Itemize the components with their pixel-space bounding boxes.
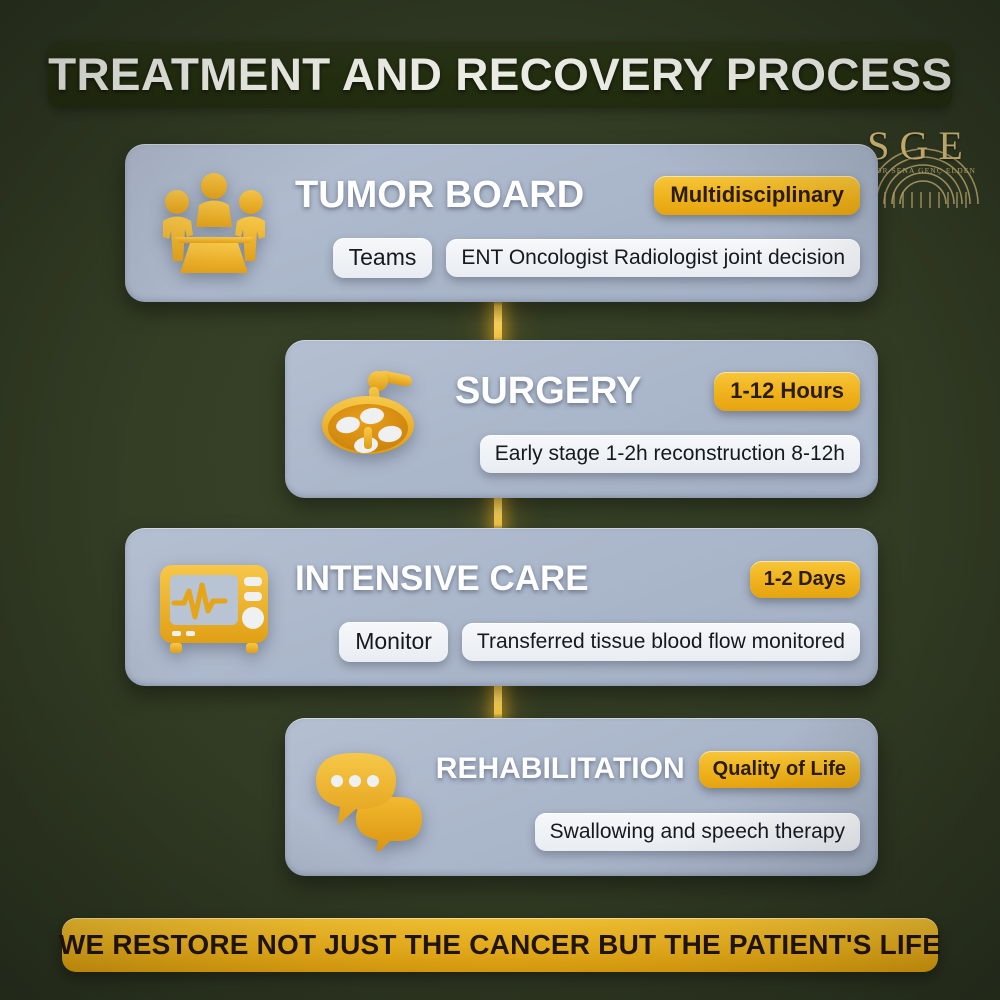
page-title-bar: TREATMENT AND RECOVERY PROCESS bbox=[48, 42, 952, 108]
step-title: REHABILITATION bbox=[436, 752, 685, 786]
step-badge[interactable]: 1-2 Days bbox=[750, 561, 860, 598]
step-detail[interactable]: Early stage 1-2h reconstruction 8-12h bbox=[480, 435, 860, 473]
footer-banner: WE RESTORE NOT JUST THE CANCER BUT THE P… bbox=[62, 918, 938, 972]
page-title: TREATMENT AND RECOVERY PROCESS bbox=[48, 49, 952, 101]
step-detail[interactable]: Swallowing and speech therapy bbox=[535, 813, 860, 851]
infographic-canvas: TREATMENT AND RECOVERY PROCESS bbox=[0, 0, 1000, 1000]
step-tag[interactable]: Monitor bbox=[339, 622, 448, 662]
footer-banner-text: WE RESTORE NOT JUST THE CANCER BUT THE P… bbox=[59, 929, 941, 961]
surgical-lamp-icon bbox=[299, 355, 449, 483]
step-title: TUMOR BOARD bbox=[295, 174, 584, 217]
ecg-monitor-icon bbox=[139, 543, 289, 671]
step-badge[interactable]: 1-12 Hours bbox=[714, 372, 860, 411]
step-tag[interactable]: Teams bbox=[333, 238, 433, 278]
step-card-intensive-care[interactable]: INTENSIVE CARE 1-2 Days Monitor Transfer… bbox=[125, 528, 878, 686]
meeting-table-icon bbox=[139, 159, 289, 287]
step-detail[interactable]: Transferred tissue blood flow monitored bbox=[462, 623, 860, 661]
step-card-rehabilitation[interactable]: REHABILITATION Quality of Life Swallowin… bbox=[285, 718, 878, 876]
step-card-surgery[interactable]: SURGERY 1-12 Hours Early stage 1-2h reco… bbox=[285, 340, 878, 498]
step-badge[interactable]: Quality of Life bbox=[699, 751, 860, 788]
step-detail[interactable]: ENT Oncologist Radiologist joint decisio… bbox=[446, 239, 860, 277]
step-card-tumor-board[interactable]: TUMOR BOARD Multidisciplinary Teams ENT … bbox=[125, 144, 878, 302]
step-title: INTENSIVE CARE bbox=[295, 559, 589, 599]
speech-bubbles-icon bbox=[299, 733, 449, 861]
step-title: SURGERY bbox=[455, 370, 642, 413]
step-badge[interactable]: Multidisciplinary bbox=[654, 176, 860, 215]
